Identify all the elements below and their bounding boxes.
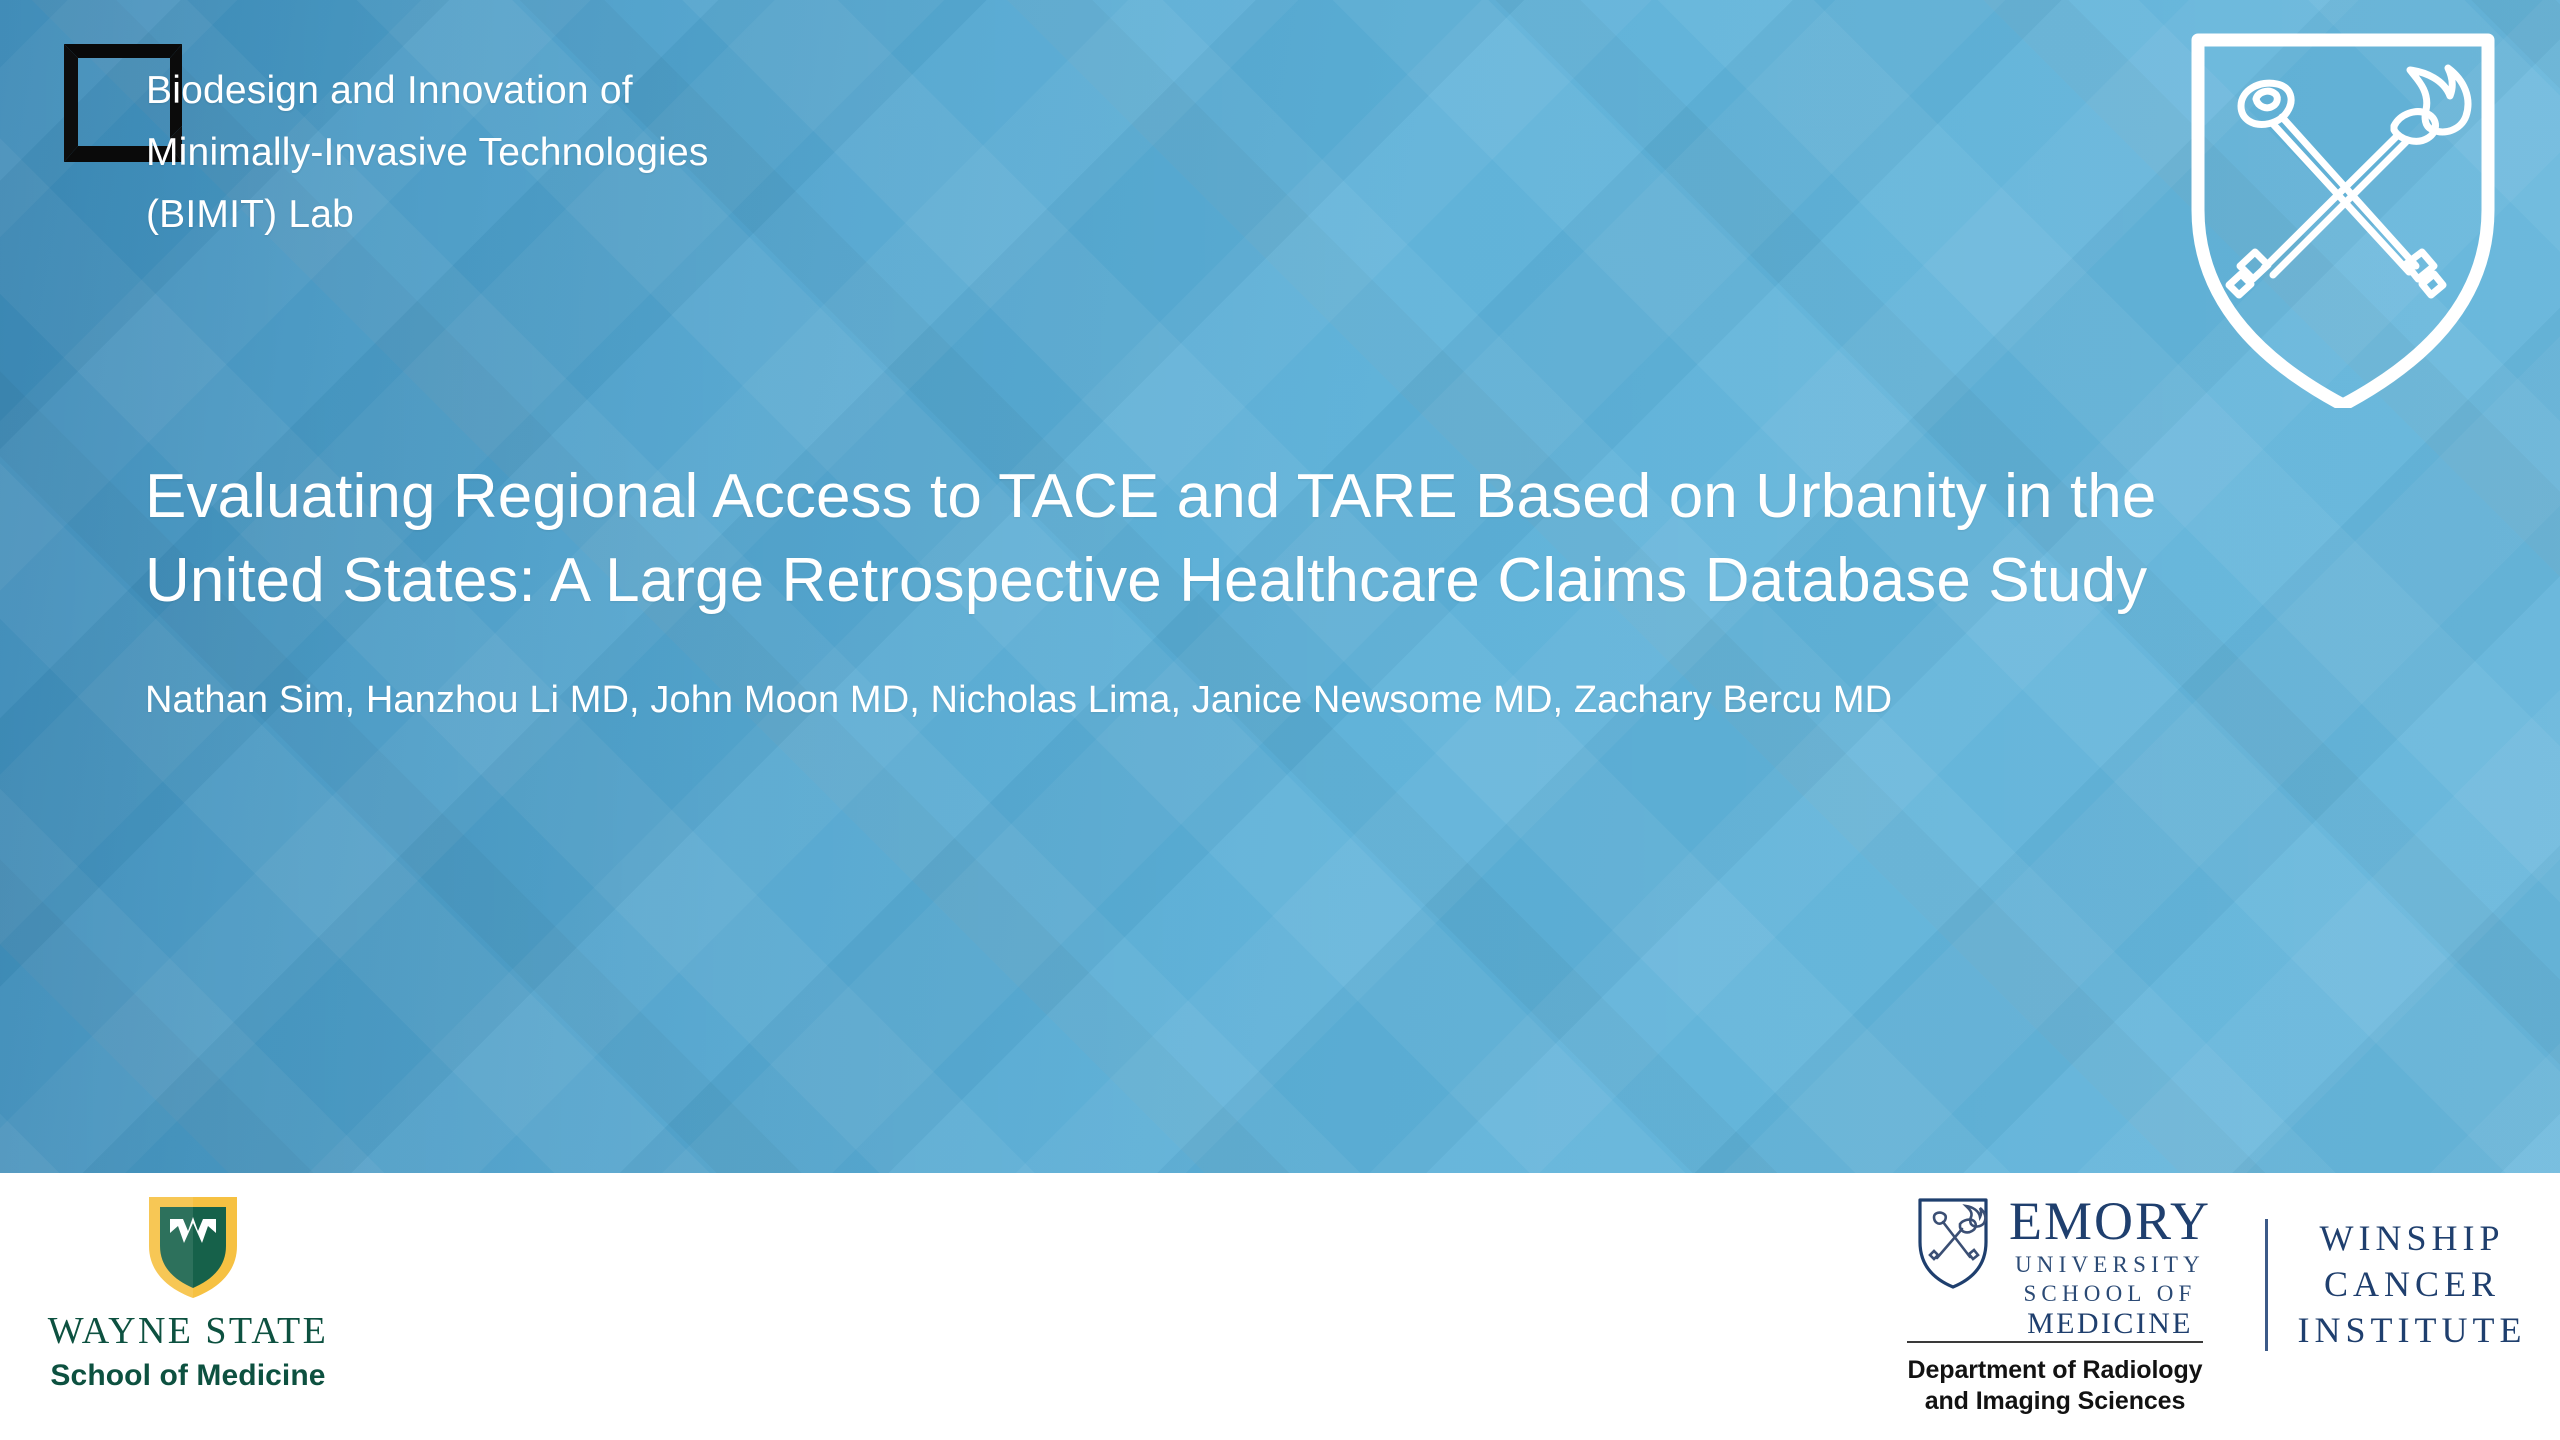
winship-line-2: CANCER [2289,1261,2535,1307]
winship-wordmark-group: WINSHIP CANCER INSTITUTE [2289,1215,2535,1353]
emory-department-label: Department of Radiology and Imaging Scie… [1907,1355,2203,1417]
emory-school-of-line: SCHOOL OF [2005,1280,2215,1307]
winship-line-1: WINSHIP [2289,1215,2535,1261]
title-slide: Biodesign and Innovation of Minimally-In… [0,0,2560,1440]
title-block: Evaluating Regional Access to TACE and T… [145,455,2245,725]
emory-school-of-medicine-logo: EMORY UNIVERSITY SCHOOL OF MEDICINE Depa… [1915,1195,2215,1421]
winship-line-3: INSTITUTE [2289,1307,2535,1353]
emory-divider-rule [1907,1341,2203,1343]
footer-logo-bar: WAYNE STATE School of Medicine [0,1173,2560,1440]
lab-name: Biodesign and Innovation of Minimally-In… [146,60,966,246]
winship-divider-bar [2265,1219,2268,1351]
wayne-state-logo: WAYNE STATE School of Medicine [38,1191,338,1427]
authors-line: Nathan Sim, Hanzhou Li MD, John Moon MD,… [145,675,2245,725]
emory-wordmark-group: EMORY UNIVERSITY SCHOOL OF MEDICINE [2005,1193,2215,1340]
lab-lockup: Biodesign and Innovation of Minimally-In… [58,38,958,238]
page-title: Evaluating Regional Access to TACE and T… [145,455,2245,623]
winship-cancer-institute-logo: WINSHIP CANCER INSTITUTE [2265,1215,2535,1365]
wayne-state-subtitle: School of Medicine [38,1359,338,1393]
emory-medicine-line: MEDICINE [2005,1308,2215,1340]
wayne-state-wordmark: WAYNE STATE [38,1309,338,1353]
wayne-state-w-shield-icon [143,1191,243,1301]
emory-wordmark: EMORY [2005,1193,2215,1249]
emory-shield-small-icon [1915,1195,1991,1291]
emory-university-line: UNIVERSITY [2005,1251,2215,1278]
emory-shield-torch-trumpet-icon [2178,18,2508,408]
